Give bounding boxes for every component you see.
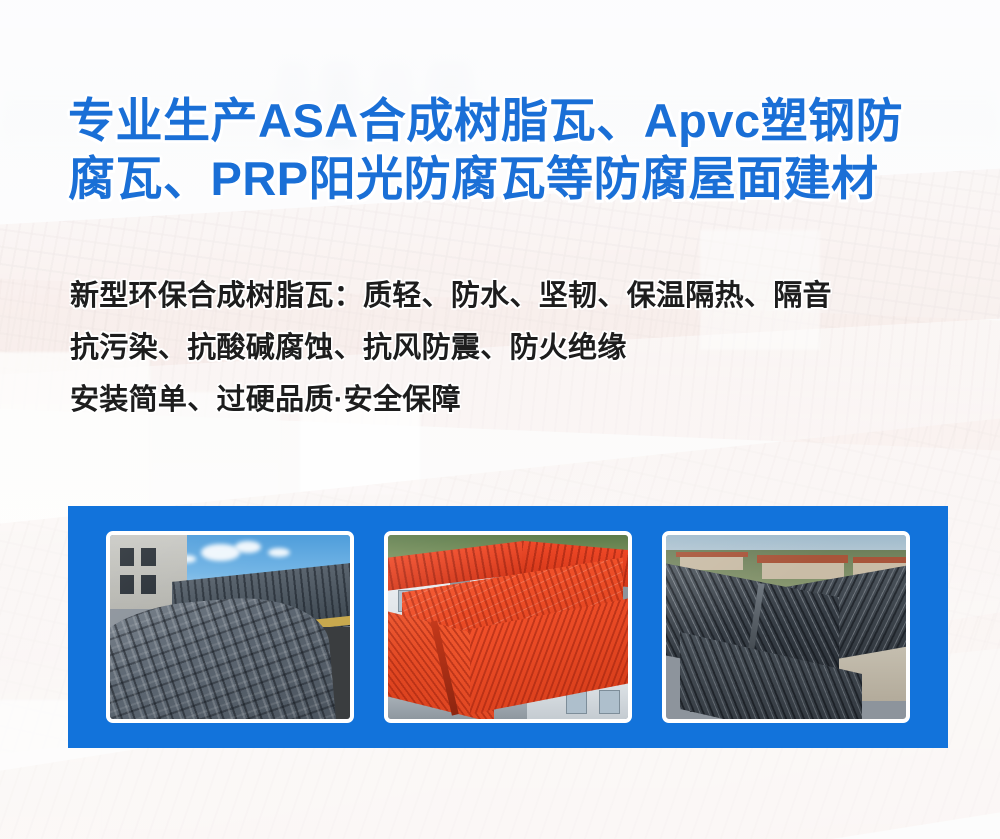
photo-gallery-panel (68, 506, 948, 748)
photo-grey-resin-tile-roof[interactable] (106, 531, 354, 723)
product-banner: 专业生产ASA合成树脂瓦、Apvc塑钢防 腐瓦、PRP阳光防腐瓦等防腐屋面建材 … (0, 0, 1000, 839)
photo-red-resin-tile-roof[interactable] (384, 531, 632, 723)
feature-list: 新型环保合成树脂瓦：质轻、防水、坚韧、保温隔热、隔音 抗污染、抗酸碱腐蚀、抗风防… (70, 270, 970, 426)
feature-line-1: 新型环保合成树脂瓦：质轻、防水、坚韧、保温隔热、隔音 (70, 270, 970, 322)
banner-content: 专业生产ASA合成树脂瓦、Apvc塑钢防 腐瓦、PRP阳光防腐瓦等防腐屋面建材 … (0, 0, 1000, 839)
feature-line-2: 抗污染、抗酸碱腐蚀、抗风防震、防火绝缘 (70, 322, 970, 374)
photo-gallery-row (68, 506, 948, 748)
feature-line-3: 安装简单、过硬品质·安全保障 (70, 374, 970, 426)
headline-line-1: 专业生产ASA合成树脂瓦、Apvc塑钢防 (68, 92, 948, 150)
headline: 专业生产ASA合成树脂瓦、Apvc塑钢防 腐瓦、PRP阳光防腐瓦等防腐屋面建材 (68, 92, 948, 208)
photo-dark-grey-roof-village[interactable] (662, 531, 910, 723)
headline-line-2: 腐瓦、PRP阳光防腐瓦等防腐屋面建材 (68, 150, 948, 208)
